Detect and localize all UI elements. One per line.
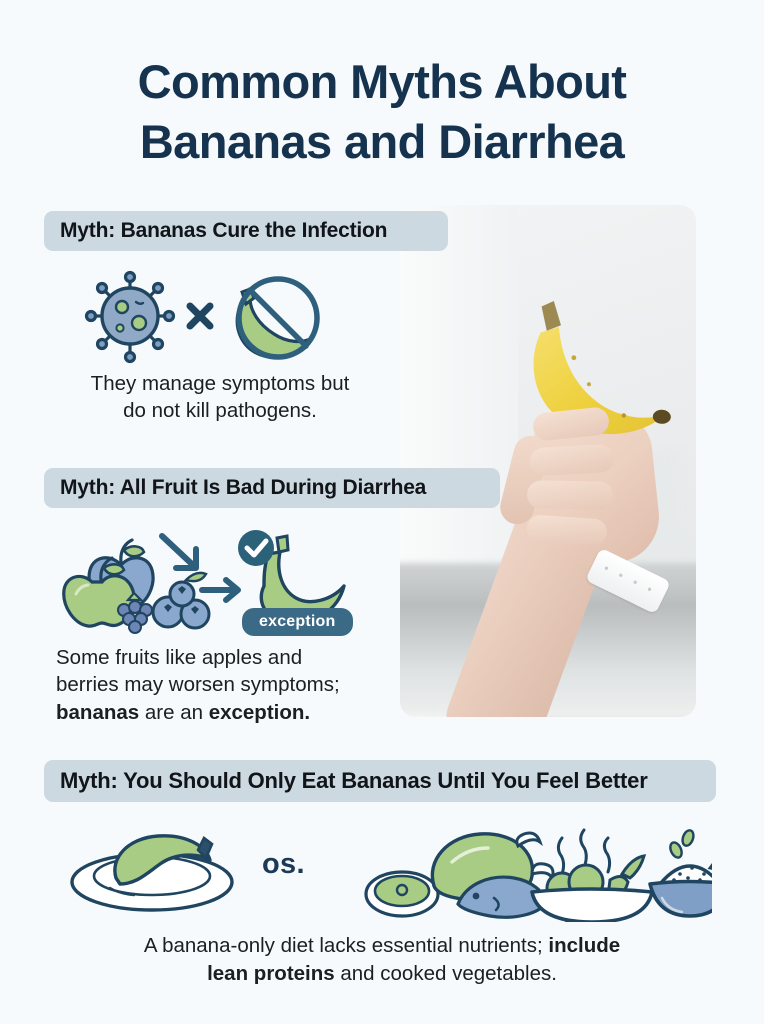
myth-3-heading: Myth: You Should Only Eat Bananas Until … (44, 760, 716, 802)
photo-finger (530, 443, 615, 475)
myth-3-icon-group (62, 812, 712, 922)
plate-with-banana-icon (72, 836, 232, 910)
check-badge-icon (238, 530, 274, 566)
myth-1-icon-group (78, 266, 348, 366)
myth-2-body: Some fruits like apples andberries may w… (56, 644, 406, 726)
multiply-x-icon (190, 306, 210, 326)
arrow-down-right-icon (162, 536, 196, 568)
myth-2-heading: Myth: All Fruit Is Bad During Diarrhea (44, 468, 500, 508)
myth-2-heading-text: Myth: All Fruit Is Bad During Diarrhea (60, 476, 426, 500)
exception-pill: exception (242, 608, 353, 636)
page-title: Common Myths About Bananas and Diarrhea (0, 52, 764, 171)
infographic-page: Common Myths About Bananas and Diarrhea (0, 0, 764, 1024)
myth-3-heading-text: Myth: You Should Only Eat Bananas Until … (60, 768, 648, 794)
rice-bowl-icon (650, 829, 712, 916)
myth-1-heading-text: Myth: Bananas Cure the Infection (60, 219, 387, 243)
title-line-2: Bananas and Diarrhea (0, 112, 764, 172)
steak-icon (366, 872, 438, 916)
blueberries-icon (153, 573, 209, 628)
banana-prohibited-icon (237, 279, 317, 358)
title-line-1: Common Myths About (0, 52, 764, 112)
exception-pill-label: exception (259, 613, 336, 630)
hand-holding-banana-photo (400, 205, 696, 717)
myth-1-heading: Myth: Bananas Cure the Infection (44, 211, 448, 251)
virus-icon (87, 273, 174, 362)
myth-1-body: They manage symptoms butdo not kill path… (44, 370, 396, 424)
photo-finger (527, 481, 613, 510)
arrow-right-icon (202, 580, 238, 600)
vs-label: os. (262, 848, 305, 881)
myth-3-body: A banana-only diet lacks essential nutri… (62, 932, 702, 988)
